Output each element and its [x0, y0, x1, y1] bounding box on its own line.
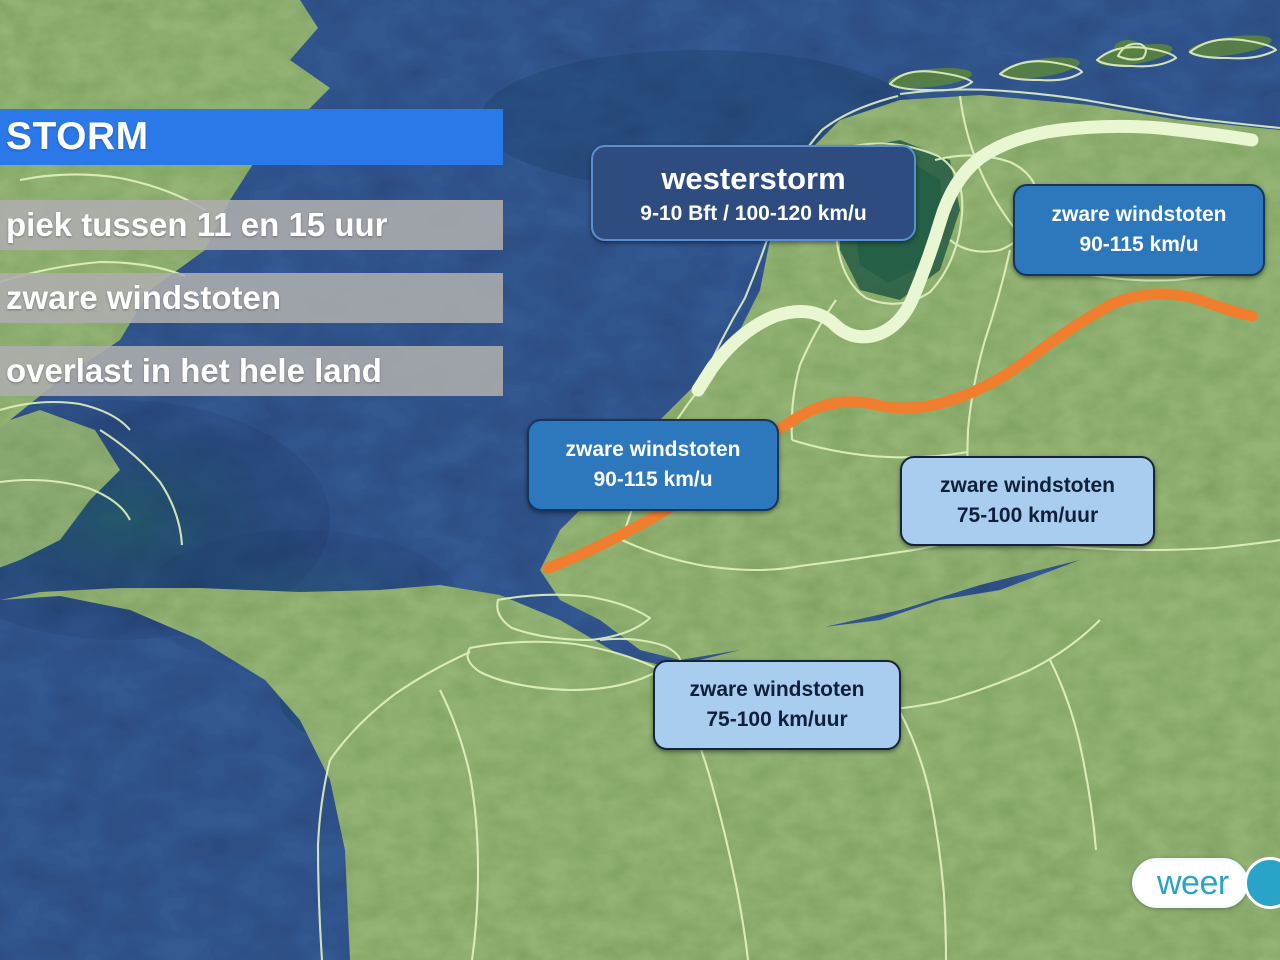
callout-detail: 9-10 Bft / 100-120 km/u — [640, 201, 866, 227]
panel-bullet-disruption: overlast in het hele land — [0, 346, 503, 396]
weather-map-screenshot: STORM piek tussen 11 en 15 uur zware win… — [0, 0, 1280, 960]
callout-detail: 75-100 km/uur — [957, 503, 1098, 529]
callout-zuid-windstoten: zware windstoten 75-100 km/uur — [653, 660, 901, 750]
callout-detail: 90-115 km/u — [593, 467, 712, 493]
callout-westerstorm: westerstorm 9-10 Bft / 100-120 km/u — [591, 145, 916, 241]
callout-title: zware windstoten — [689, 677, 864, 703]
callout-detail: 90-115 km/u — [1079, 232, 1198, 258]
callout-detail: 75-100 km/uur — [706, 707, 847, 733]
panel-bullet-gusts: zware windstoten — [0, 273, 503, 323]
panel-bullet-peak: piek tussen 11 en 15 uur — [0, 200, 503, 250]
callout-oost-windstoten: zware windstoten 75-100 km/uur — [900, 456, 1155, 546]
logo-label: weer — [1157, 864, 1229, 903]
weer-logo[interactable]: weer — [1132, 858, 1248, 908]
callout-noord-windstoten: zware windstoten 90-115 km/u — [1013, 184, 1265, 276]
panel-title: STORM — [0, 109, 503, 165]
callout-title: zware windstoten — [1051, 202, 1226, 228]
callout-title: zware windstoten — [565, 437, 740, 463]
callout-title: zware windstoten — [940, 473, 1115, 499]
logo-pill: weer — [1132, 858, 1248, 908]
callout-title: westerstorm — [661, 160, 845, 198]
callout-west-windstoten: zware windstoten 90-115 km/u — [527, 419, 779, 511]
